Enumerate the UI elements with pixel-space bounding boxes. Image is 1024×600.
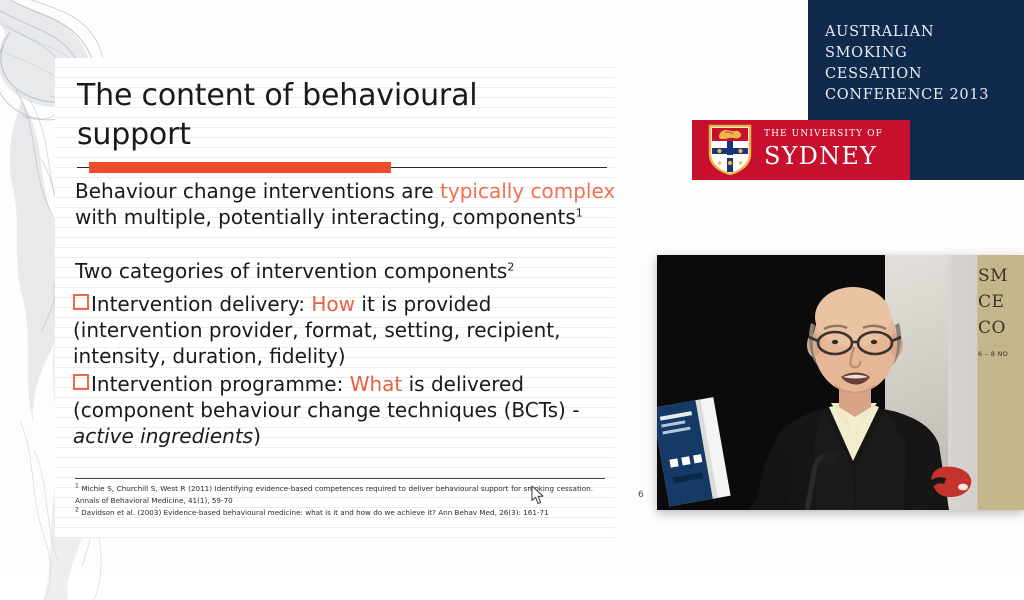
intro-footnote-marker: 2 bbox=[507, 260, 514, 273]
conference-logo-line-4: CONFERENCE 2013 bbox=[825, 85, 1015, 106]
lede-paragraph: Behaviour change interventions are typic… bbox=[75, 178, 620, 230]
intro-paragraph: Two categories of intervention component… bbox=[75, 258, 605, 284]
conference-logo-line-1: AUSTRALIAN bbox=[825, 22, 1015, 43]
footnote-divider bbox=[75, 478, 605, 479]
bullet-2-lead: Intervention programme: bbox=[91, 372, 350, 396]
footnote-item: 1 Michie S, Churchill S, West R (2011) I… bbox=[75, 483, 593, 506]
bullet-2-detail-italic: active ingredients bbox=[73, 424, 253, 448]
mouse-pointer-icon bbox=[531, 485, 545, 505]
footnote-2-marker: 2 bbox=[75, 507, 79, 514]
bullet-2-rest: is delivered bbox=[402, 372, 524, 396]
presentation-slide: The content of behavioural support Behav… bbox=[55, 58, 615, 538]
bullet-item-intervention-delivery: Intervention delivery: How it is provide… bbox=[73, 291, 613, 369]
conference-logo-line-3: CESSATION bbox=[825, 64, 1015, 85]
lede-before: Behaviour change interventions are bbox=[75, 179, 440, 203]
speaker-figure bbox=[657, 255, 1024, 510]
university-of-sydney-logo: THE UNIVERSITY OF SYDNEY bbox=[692, 120, 910, 180]
conference-logo-text: AUSTRALIAN SMOKING CESSATION CONFERENCE … bbox=[825, 22, 1015, 106]
footnote-1-text: Michie S, Churchill S, West R (2011) Ide… bbox=[75, 484, 593, 505]
bullet-item-intervention-programme: Intervention programme: What is delivere… bbox=[73, 371, 613, 449]
lede-second-line: with multiple, potentially interacting, … bbox=[75, 205, 576, 229]
bullet-2-detail-before: (component behaviour change techniques (… bbox=[73, 398, 579, 422]
lede-footnote-marker: 1 bbox=[576, 206, 583, 219]
speaker-video-thumbnail[interactable]: SM CE CO 6 – 8 NO bbox=[657, 255, 1024, 510]
lede-highlight: typically complex bbox=[440, 179, 615, 203]
footnote-list: 1 Michie S, Churchill S, West R (2011) I… bbox=[75, 483, 593, 520]
bullet-1-detail: (intervention provider, format, setting,… bbox=[73, 318, 561, 368]
slide-page-number: 6 bbox=[638, 490, 644, 500]
empty-square-bullet-icon bbox=[73, 294, 89, 310]
university-pretitle: THE UNIVERSITY OF bbox=[764, 129, 883, 139]
bullet-1-lead: Intervention delivery: bbox=[91, 292, 311, 316]
conference-logo: AUSTRALIAN SMOKING CESSATION CONFERENCE … bbox=[808, 0, 1024, 180]
bullet-1-keyword: How bbox=[311, 292, 355, 316]
slide-viewer: The content of behavioural support Behav… bbox=[0, 0, 1024, 576]
footnote-1-marker: 1 bbox=[75, 483, 79, 490]
slide-title: The content of behavioural support bbox=[77, 76, 547, 154]
intro-text: Two categories of intervention component… bbox=[75, 259, 507, 283]
orange-accent-bar bbox=[89, 162, 391, 173]
university-name: SYDNEY bbox=[764, 142, 877, 170]
bullet-1-rest: it is provided bbox=[355, 292, 491, 316]
conference-logo-line-2: SMOKING bbox=[825, 43, 1015, 64]
footnote-2-text: Davidson et al. (2003) Evidence-based be… bbox=[81, 508, 549, 517]
empty-square-bullet-icon bbox=[73, 374, 89, 390]
bullet-2-detail-after: ) bbox=[253, 424, 261, 448]
bullet-2-keyword: What bbox=[350, 372, 403, 396]
footnote-item: 2 Davidson et al. (2003) Evidence-based … bbox=[75, 507, 593, 519]
title-accent-divider bbox=[77, 162, 607, 174]
sydney-crest-icon bbox=[708, 124, 752, 176]
